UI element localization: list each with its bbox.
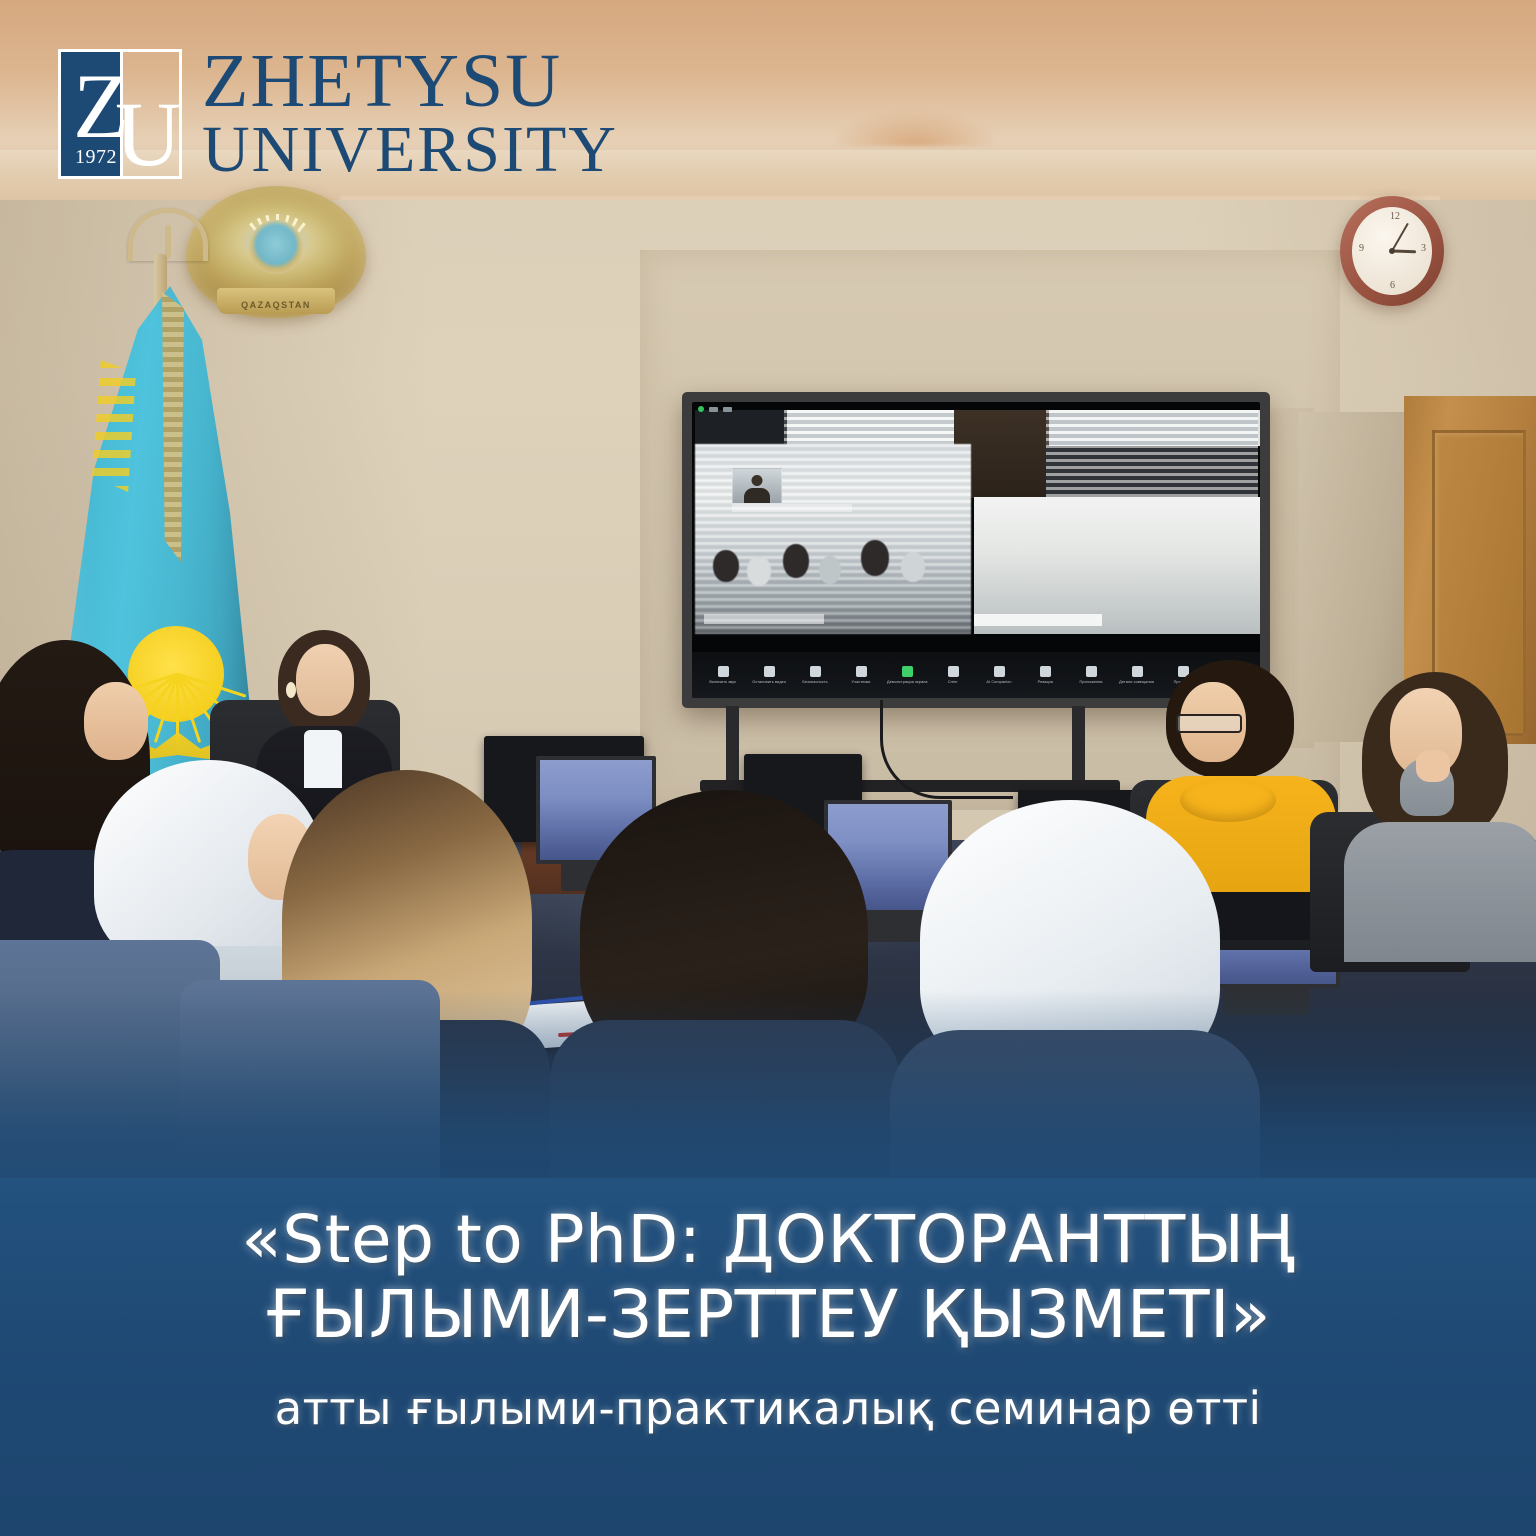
toolbar-mute-button[interactable]: Включить звук: [700, 666, 746, 684]
toolbar-apps-button[interactable]: Приложения: [1068, 666, 1114, 684]
toolbar-participants-button[interactable]: Участники: [838, 666, 884, 684]
self-view-name-label: [732, 504, 852, 512]
chat-icon: [948, 666, 959, 677]
call-status-indicators: [698, 406, 732, 412]
microphone-icon: [718, 666, 729, 677]
logo-letter-u: U: [115, 88, 181, 180]
university-name-line2: UNIVERSITY: [202, 118, 618, 183]
flag-fringe: [162, 292, 184, 562]
reaction-icon: [1040, 666, 1051, 677]
seminar-subtitle: атты ғылыми-практикалық семинар өтті: [275, 1382, 1262, 1436]
toolbar-ai-companion-button[interactable]: AI Companion: [976, 666, 1022, 684]
zu-logo-mark: Z U 1972: [58, 49, 182, 179]
toolbar-chat-button[interactable]: Créer: [930, 666, 976, 684]
toolbar-share-screen-button[interactable]: Демонстрация экрана: [884, 666, 930, 684]
photo-bottom-fade: [0, 990, 1536, 1200]
info-icon: [1132, 666, 1143, 677]
toolbar-video-button[interactable]: Остановить видео: [746, 666, 792, 684]
shield-icon: [810, 666, 821, 677]
university-name: ZHETYSU UNIVERSITY: [202, 44, 618, 183]
toolbar-reactions-button[interactable]: Реакции: [1022, 666, 1068, 684]
speaker-name-tag: [974, 614, 1102, 626]
camera-icon: [764, 666, 775, 677]
video-call-screen[interactable]: Включить звук Остановить видео Безопасно…: [692, 402, 1260, 698]
toolbar-security-button[interactable]: Безопасность: [792, 666, 838, 684]
university-name-line1: ZHETYSU: [202, 44, 618, 118]
clock-face: 12 3 6 9: [1352, 207, 1432, 295]
seminar-title: «Step to PhD: ДОКТОРАНТТЫҢ ҒЫЛЫМИ-ЗЕРТТЕ…: [68, 1202, 1468, 1352]
attendee-grey-turtleneck: [1350, 672, 1536, 952]
display-cable: [880, 700, 1013, 799]
sparkle-icon: [994, 666, 1005, 677]
apps-icon: [1086, 666, 1097, 677]
flag-finial-icon: [128, 208, 208, 261]
logo-founding-year: 1972: [75, 146, 117, 169]
room-name-tag: [704, 614, 824, 624]
university-logo[interactable]: Z U 1972 ZHETYSU UNIVERSITY: [58, 44, 618, 183]
share-screen-icon: [902, 666, 913, 677]
self-view-thumbnail[interactable]: [732, 468, 782, 504]
participants-icon: [856, 666, 867, 677]
display-leg-right: [1072, 706, 1085, 784]
eyeglasses-icon: [1176, 714, 1242, 733]
display-leg-left: [726, 706, 739, 784]
poster: QAZAQSTAN 12 3 6: [0, 0, 1536, 1536]
caption-banner: «Step to PhD: ДОКТОРАНТТЫҢ ҒЫЛЫМИ-ЗЕРТТЕ…: [0, 1178, 1536, 1536]
flag-ornament: [92, 360, 136, 492]
wall-clock: 12 3 6 9: [1340, 196, 1444, 306]
